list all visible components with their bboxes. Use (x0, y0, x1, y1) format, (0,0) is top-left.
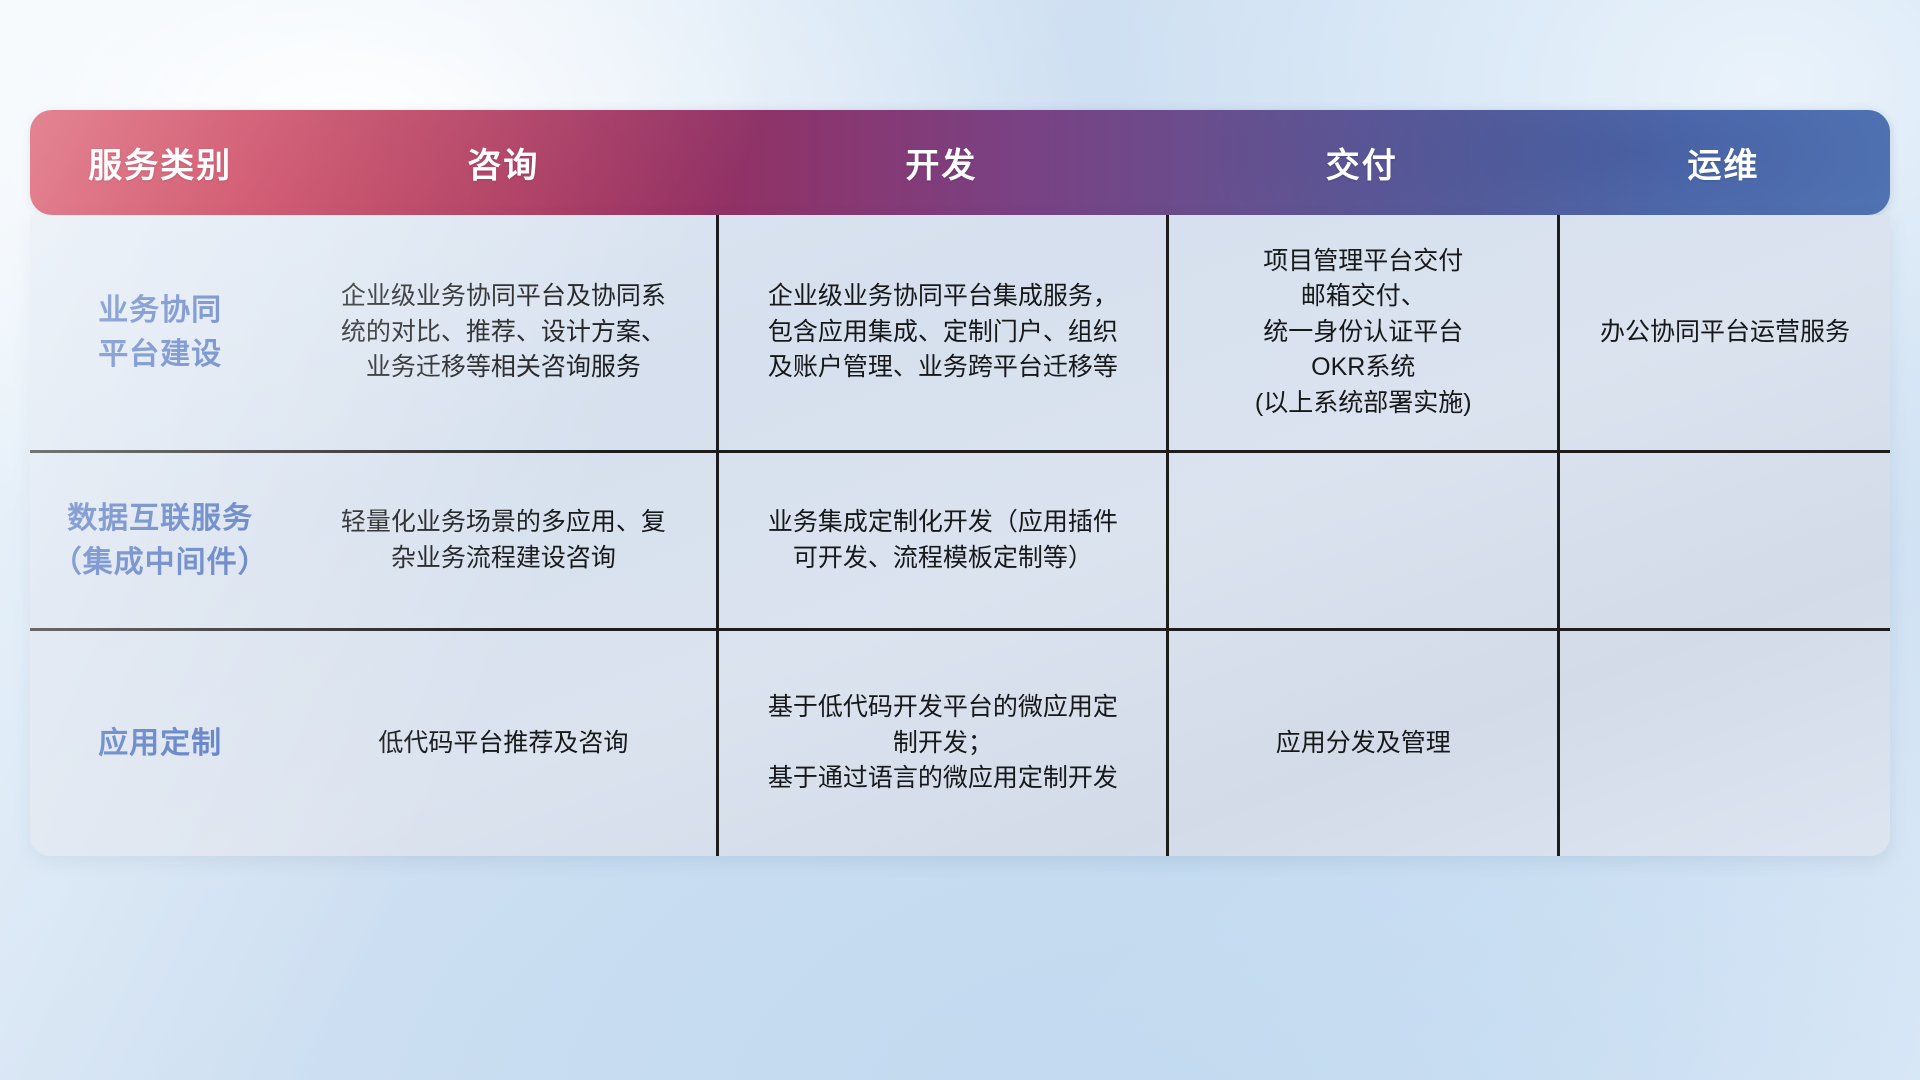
cell-category: 业务协同 平台建设 (30, 215, 290, 450)
column-header-category: 服务类别 (30, 138, 290, 187)
cell-development: 基于低代码开发平台的微应用定 制开发； 基于通过语言的微应用定制开发 (716, 631, 1166, 856)
column-header-development: 开发 (716, 138, 1166, 187)
table-row: 业务协同 平台建设 企业级业务协同平台及协同系 统的对比、推荐、设计方案、 业务… (30, 215, 1890, 450)
cell-development: 业务集成定制化开发（应用插件 可开发、流程模板定制等） (716, 453, 1166, 628)
table-body: 业务协同 平台建设 企业级业务协同平台及协同系 统的对比、推荐、设计方案、 业务… (30, 215, 1890, 856)
cell-consulting: 企业级业务协同平台及协同系 统的对比、推荐、设计方案、 业务迁移等相关咨询服务 (290, 215, 716, 450)
cell-operations: 办公协同平台运营服务 (1557, 215, 1890, 450)
cell-development: 企业级业务协同平台集成服务， 包含应用集成、定制门户、组织 及账户管理、业务跨平… (716, 215, 1166, 450)
cell-category: 应用定制 (30, 631, 290, 856)
table-row: 数据互联服务 （集成中间件） 轻量化业务场景的多应用、复 杂业务流程建设咨询 业… (30, 450, 1890, 628)
service-matrix-table: 服务类别 咨询 开发 交付 运维 业务协同 平台建设 企业级业务协同平台及协同系… (30, 110, 1890, 856)
column-header-consulting: 咨询 (290, 138, 716, 187)
table-row: 应用定制 低代码平台推荐及咨询 基于低代码开发平台的微应用定 制开发； 基于通过… (30, 628, 1890, 856)
cell-operations (1557, 631, 1890, 856)
cell-consulting: 轻量化业务场景的多应用、复 杂业务流程建设咨询 (290, 453, 716, 628)
table-header-row: 服务类别 咨询 开发 交付 运维 (30, 110, 1890, 215)
cell-delivery: 项目管理平台交付 邮箱交付、 统一身份认证平台 OKR系统 (以上系统部署实施) (1166, 215, 1557, 450)
cell-category: 数据互联服务 （集成中间件） (30, 453, 290, 628)
cell-delivery (1166, 453, 1557, 628)
column-header-operations: 运维 (1557, 138, 1890, 187)
cell-consulting: 低代码平台推荐及咨询 (290, 631, 716, 856)
cell-delivery: 应用分发及管理 (1166, 631, 1557, 856)
column-header-delivery: 交付 (1166, 138, 1557, 187)
cell-operations (1557, 453, 1890, 628)
page-canvas: 服务类别 咨询 开发 交付 运维 业务协同 平台建设 企业级业务协同平台及协同系… (0, 0, 1920, 1080)
